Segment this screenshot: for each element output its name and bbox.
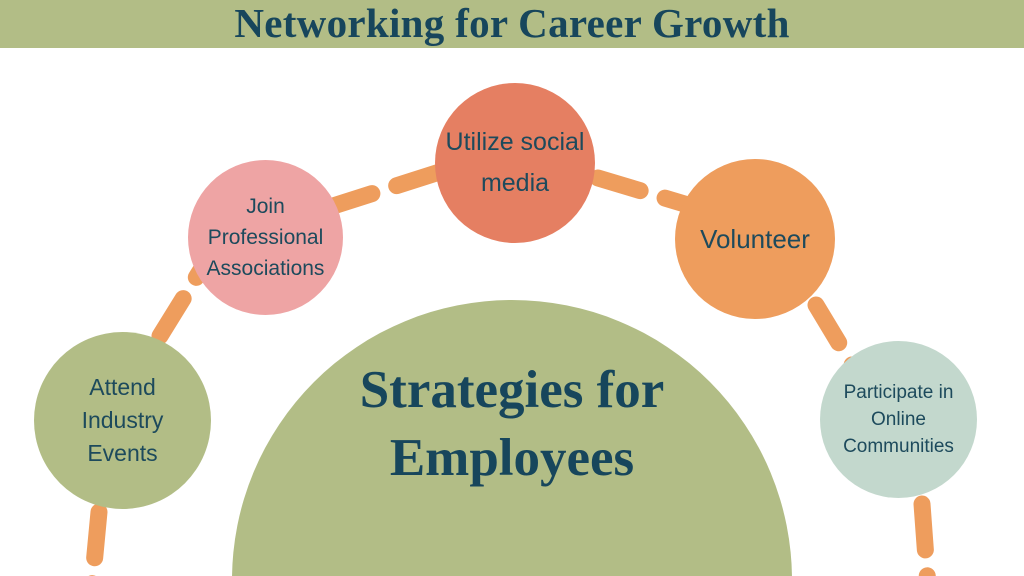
node-label-attend-industry-events: Attend Industry Events xyxy=(48,371,198,470)
header-band: Networking for Career Growth xyxy=(0,0,1024,48)
page-title: Networking for Career Growth xyxy=(234,1,789,45)
node-volunteer[interactable]: Volunteer xyxy=(675,159,835,319)
node-participate-online-communities[interactable]: Participate in Online Communities xyxy=(820,341,977,498)
dash-run-bottom-right xyxy=(922,504,928,576)
infographic-canvas: Strategies for Employees Attend Industry… xyxy=(0,0,1024,576)
node-utilize-social-media[interactable]: Utilize social media xyxy=(435,83,595,243)
node-join-professional-associations[interactable]: Join Professional Associations xyxy=(188,160,343,315)
node-label-utilize-social-media: Utilize social media xyxy=(445,122,585,204)
dash-run-bottom-left xyxy=(92,512,99,576)
node-attend-industry-events[interactable]: Attend Industry Events xyxy=(34,332,211,509)
dash-run-upper-left xyxy=(330,168,452,207)
node-label-participate-online-communities: Participate in Online Communities xyxy=(821,379,976,460)
node-label-join-professional-associations: Join Professional Associations xyxy=(192,191,340,284)
node-label-volunteer: Volunteer xyxy=(678,224,833,254)
center-hub-label: Strategies for Employees xyxy=(302,356,722,492)
